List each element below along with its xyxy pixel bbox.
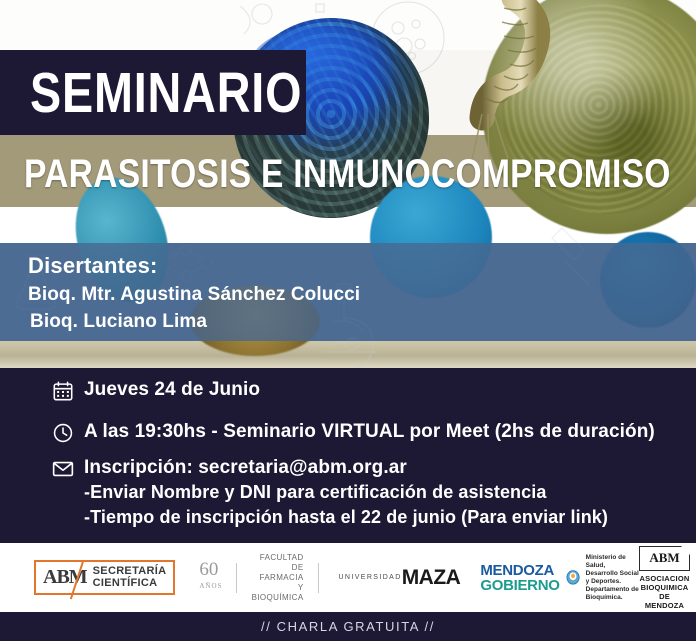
anniversary-badge: 60 AÑOS (199, 561, 222, 595)
footer-note: // CHARLA GRATUITA // (261, 619, 435, 634)
logo-abm-secretaria-cientifica: ABM SECRETARÍA CIENTÍFICA (34, 543, 175, 612)
abm-secretaria-words: SECRETARÍA CIENTÍFICA (93, 565, 167, 589)
facultad-line3: Y BIOQUÍMICA (251, 583, 303, 603)
sponsor-logo-strip: ABM SECRETARÍA CIENTÍFICA 60 AÑOS FACULT… (0, 543, 696, 612)
calendar-icon (52, 380, 74, 402)
mendoza-shield-icon (566, 565, 580, 591)
speakers-heading: Disertantes: (28, 253, 158, 279)
speaker-name: Bioq. Luciano Lima (30, 311, 207, 333)
facultad-line2: FARMACIA (251, 573, 303, 583)
logo-divider (318, 563, 319, 593)
page-title: SEMINARIO (30, 60, 302, 126)
logo-mendoza-gobierno: MENDOZA GOBIERNO Ministerio de Salud, De… (480, 543, 639, 612)
registration-note: -Tiempo de inscripción hasta el 22 de ju… (84, 505, 608, 530)
footer-bar: // CHARLA GRATUITA // (0, 612, 696, 641)
detail-row-registration: Inscripción: secretaria@abm.org.ar -Envi… (52, 456, 608, 530)
anniversary-number: 60 (199, 559, 218, 580)
detail-row-time: A las 19:30hs - Seminario VIRTUAL por Me… (52, 420, 655, 444)
detail-main-text: A las 19:30hs - Seminario VIRTUAL por Me… (84, 420, 655, 444)
mendoza-line1: MENDOZA (480, 563, 559, 578)
speaker-name: Bioq. Mtr. Agustina Sánchez Colucci (28, 284, 360, 306)
detail-body: Jueves 24 de Junio (84, 378, 260, 402)
anniversary-label: AÑOS (199, 578, 222, 595)
facultad-line1: FACULTAD DE (251, 553, 303, 573)
ministerio-line2: Desarrollo Social y Deportes. (586, 570, 640, 586)
detail-row-date: Jueves 24 de Junio (52, 378, 260, 402)
logo-universidad-maza: UNIVERSIDAD MAZA (338, 543, 460, 612)
detail-body: A las 19:30hs - Seminario VIRTUAL por Me… (84, 420, 655, 444)
page-subtitle: PARASITOSIS E INMUNOCOMPROMISO (24, 150, 671, 198)
asoc-corner-cut (681, 546, 690, 555)
abm-secretaria-line2: CIENTÍFICA (93, 577, 167, 589)
abm-secretaria-box: ABM SECRETARÍA CIENTÍFICA (34, 560, 175, 595)
asoc-line2: DE MENDOZA (639, 592, 689, 610)
seminar-poster: SEMINARIO PARASITOSIS E INMUNOCOMPROMISO… (0, 0, 696, 641)
envelope-icon (52, 458, 74, 480)
facultad-words: FACULTAD DE FARMACIA Y BIOQUÍMICA (251, 553, 303, 603)
asoc-abm-wordmark: ABM (649, 550, 679, 565)
ministerio-line3: Departamento de Bioquímica. (586, 586, 640, 602)
asoc-abm-box: ABM (639, 546, 689, 571)
asoc-subtitle: ASOCIACION BIOQUIMICA DE MENDOZA (639, 574, 689, 610)
parasite-worm-icon (452, 0, 572, 166)
detail-body: Inscripción: secretaria@abm.org.ar -Envi… (84, 456, 608, 530)
mendoza-line2: GOBIERNO (480, 578, 559, 593)
maza-top-label: UNIVERSIDAD (338, 571, 401, 584)
mendoza-wordmark: MENDOZA GOBIERNO (480, 563, 559, 593)
ministerio-line1: Ministerio de Salud, (586, 554, 640, 570)
abm-secretaria-line1: SECRETARÍA (93, 565, 167, 577)
clock-icon (52, 422, 74, 444)
logo-facultad-farmacia-bioquimica: 60 AÑOS FACULTAD DE FARMACIA Y BIOQUÍMIC… (199, 543, 326, 612)
logo-asociacion-bioquimica-mendoza: ABM ASOCIACION BIOQUIMICA DE MENDOZA (639, 543, 689, 612)
ministerio-words: Ministerio de Salud, Desarrollo Social y… (586, 554, 640, 602)
registration-note: -Enviar Nombre y DNI para certificación … (84, 480, 608, 505)
asoc-line1: ASOCIACION BIOQUIMICA (639, 574, 689, 592)
registration-email-line[interactable]: Inscripción: secretaria@abm.org.ar (84, 456, 608, 480)
speakers-section: Disertantes: Bioq. Mtr. Agustina Sánchez… (0, 243, 696, 341)
maza-wordmark: MAZA (402, 571, 461, 584)
asoc-stack: ABM ASOCIACION BIOQUIMICA DE MENDOZA (639, 546, 689, 610)
logo-divider (236, 563, 237, 593)
detail-main-text: Jueves 24 de Junio (84, 378, 260, 402)
